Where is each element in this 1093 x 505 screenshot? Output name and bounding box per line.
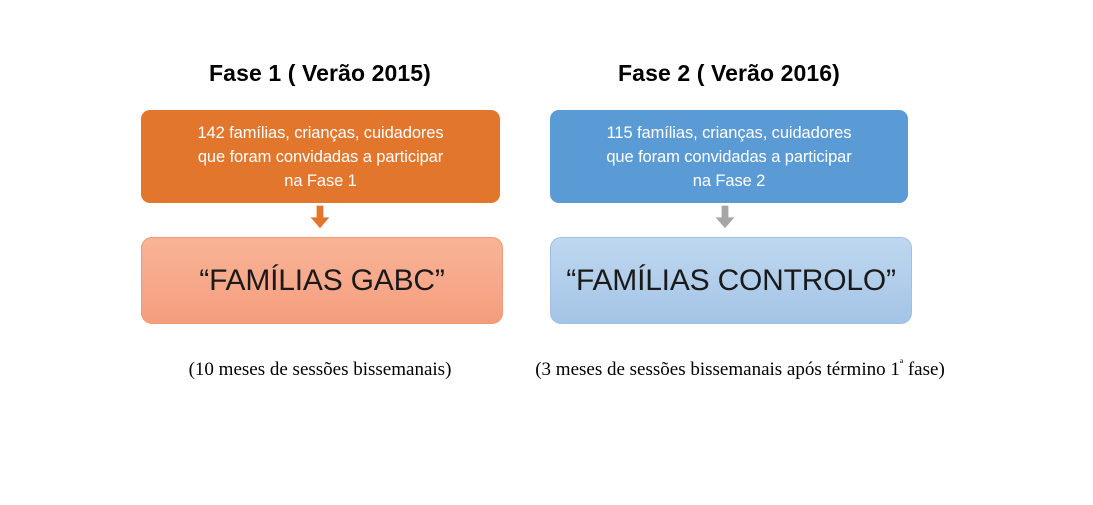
phase-2-caption-suffix: fase): [903, 359, 945, 380]
phase-1-result-box: “FAMÍLIAS GABC”: [141, 237, 503, 324]
arrow-down-icon: [308, 205, 332, 229]
phase-1-arrow: [308, 205, 332, 229]
phase-1-intake-text: 142 famílias, crianças, cuidadores que f…: [197, 121, 443, 193]
arrow-down-icon: [713, 205, 737, 229]
phase-2-result-box: “FAMÍLIAS CONTROLO”: [550, 237, 912, 324]
phase-1-result-text: “FAMÍLIAS GABC”: [199, 264, 444, 298]
phase-2-caption: (3 meses de sessões bissemanais após tér…: [520, 358, 960, 382]
phase-1-title: Fase 1 ( Verão 2015): [120, 59, 520, 87]
phase-1-intake-line-2: que foram convidadas a participar: [197, 145, 443, 169]
phase-2-caption-prefix: (3 meses de sessões bissemanais após tér…: [535, 359, 900, 380]
phase-2-arrow: [713, 205, 737, 229]
phase-2-intake-box: 115 famílias, crianças, cuidadores que f…: [550, 110, 908, 203]
phase-2-intake-line-3: na Fase 2: [606, 169, 851, 193]
phase-1-caption: (10 meses de sessões bissemanais): [120, 358, 520, 382]
phase-2-result-text: “FAMÍLIAS CONTROLO”: [566, 264, 896, 298]
phase-2-title: Fase 2 ( Verão 2016): [520, 59, 938, 87]
phase-1-column: Fase 1 ( Verão 2015) 142 famílias, crian…: [120, 0, 520, 505]
phase-2-column: Fase 2 ( Verão 2016) 115 famílias, crian…: [520, 0, 960, 505]
phase-1-caption-prefix: (10 meses de sessões bissemanais): [189, 359, 452, 380]
phase-1-intake-box: 142 famílias, crianças, cuidadores que f…: [141, 110, 500, 203]
phase-1-intake-line-3: na Fase 1: [197, 169, 443, 193]
phase-1-intake-line-1: 142 famílias, crianças, cuidadores: [197, 121, 443, 145]
phase-2-intake-text: 115 famílias, crianças, cuidadores que f…: [606, 121, 851, 193]
phase-2-intake-line-2: que foram convidadas a participar: [606, 145, 851, 169]
phase-2-intake-line-1: 115 famílias, crianças, cuidadores: [606, 121, 851, 145]
diagram-canvas: Fase 1 ( Verão 2015) 142 famílias, crian…: [0, 0, 1093, 505]
